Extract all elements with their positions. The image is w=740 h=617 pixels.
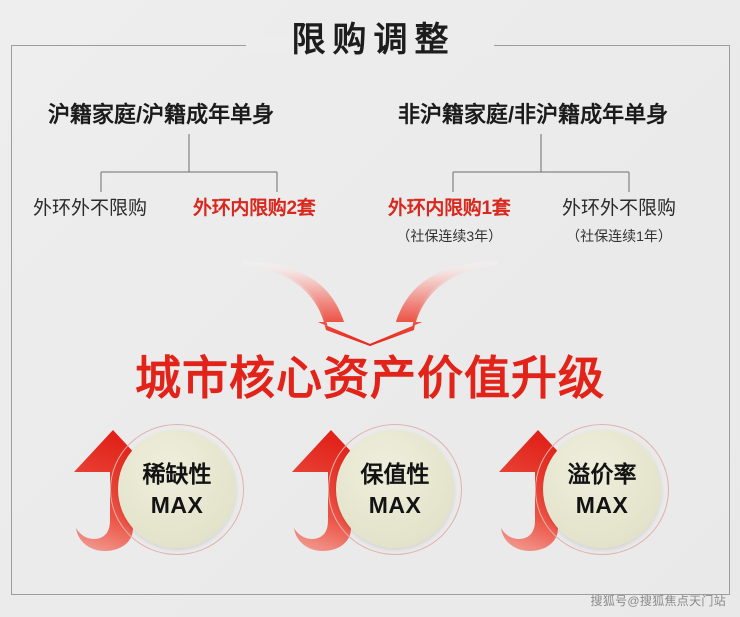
column-header-local: 沪籍家庭/沪籍成年单身 <box>48 97 274 129</box>
watermark-text: 搜狐号@搜狐焦点天门站 <box>591 592 726 609</box>
headline-text: 城市核心资产价值升级 <box>0 350 740 406</box>
leaf-note: （社保连续3年） <box>388 224 510 248</box>
badge-premium-rate: 溢价率 MAX <box>485 424 700 554</box>
page-title: 限购调整 <box>0 20 740 60</box>
leaf-note: （社保连续1年） <box>562 224 676 248</box>
poster-canvas: 限购调整 沪籍家庭/沪籍成年单身 非沪籍家庭/非沪籍成年单身 外环外不限购 外环… <box>0 0 740 617</box>
leaf-text: 外环外不限购 <box>33 197 147 221</box>
leaf-label-4: 外环外不限购 （社保连续1年） <box>562 197 676 248</box>
leaf-text: 外环内限购1套 <box>388 197 510 221</box>
leaf-label-1: 外环外不限购 <box>33 197 147 224</box>
badge-label: 溢价率 MAX <box>541 432 663 546</box>
badge-label-cn: 溢价率 <box>568 460 637 488</box>
leaf-label-2: 外环内限购2套 <box>193 197 315 224</box>
badge-label: 稀缺性 MAX <box>116 432 238 546</box>
badge-label-en: MAX <box>151 491 204 519</box>
leaf-text: 外环内限购2套 <box>193 197 315 221</box>
badge-label-en: MAX <box>369 491 422 519</box>
leaf-label-3: 外环内限购1套 （社保连续3年） <box>388 197 510 248</box>
leaf-text: 外环外不限购 <box>562 197 676 221</box>
badge-label-cn: 稀缺性 <box>143 460 212 488</box>
funnel-shape-overlay <box>242 260 498 346</box>
badge-row: 稀缺性 MAX 保值性 MAX <box>60 424 710 554</box>
badge-label-en: MAX <box>576 491 629 519</box>
badge-value-retention: 保值性 MAX <box>278 424 493 554</box>
column-header-nonlocal: 非沪籍家庭/非沪籍成年单身 <box>398 97 668 129</box>
funnel-arrow-icon <box>240 258 500 346</box>
badge-scarcity: 稀缺性 MAX <box>60 424 275 554</box>
badge-label: 保值性 MAX <box>334 432 456 546</box>
badge-label-cn: 保值性 <box>361 460 430 488</box>
